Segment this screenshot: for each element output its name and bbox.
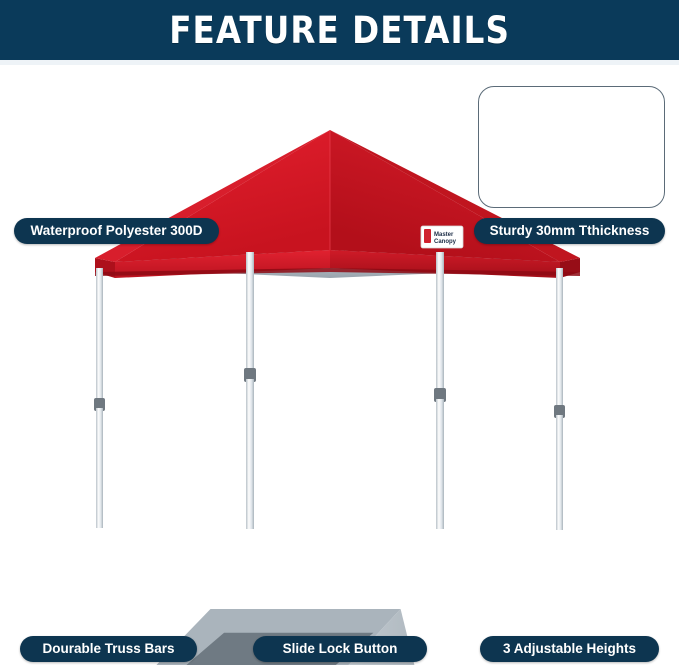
label-sturdy-thickness: Sturdy 30mm Tthickness — [474, 218, 665, 244]
sturdy-tube-frame — [478, 86, 665, 208]
header-banner: FEATURE DETAILS — [0, 0, 679, 60]
page-title: FEATURE DETAILS — [169, 9, 510, 52]
label-slide-lock-button: Slide Lock Button — [253, 636, 427, 662]
label-adjustable-heights: 3 Adjustable Heights — [480, 636, 659, 662]
svg-text:Master: Master — [434, 232, 454, 238]
svg-text:Canopy: Canopy — [434, 239, 457, 245]
canopy-legs — [94, 252, 565, 530]
header-divider — [0, 60, 679, 65]
label-truss-bars: Dourable Truss Bars — [20, 636, 197, 662]
feature-details-infographic: FEATURE DETAILS — [0, 0, 679, 665]
label-waterproof-polyester: Waterproof Polyester 300D — [14, 218, 219, 244]
brand-patch: Master Canopy — [421, 226, 463, 248]
